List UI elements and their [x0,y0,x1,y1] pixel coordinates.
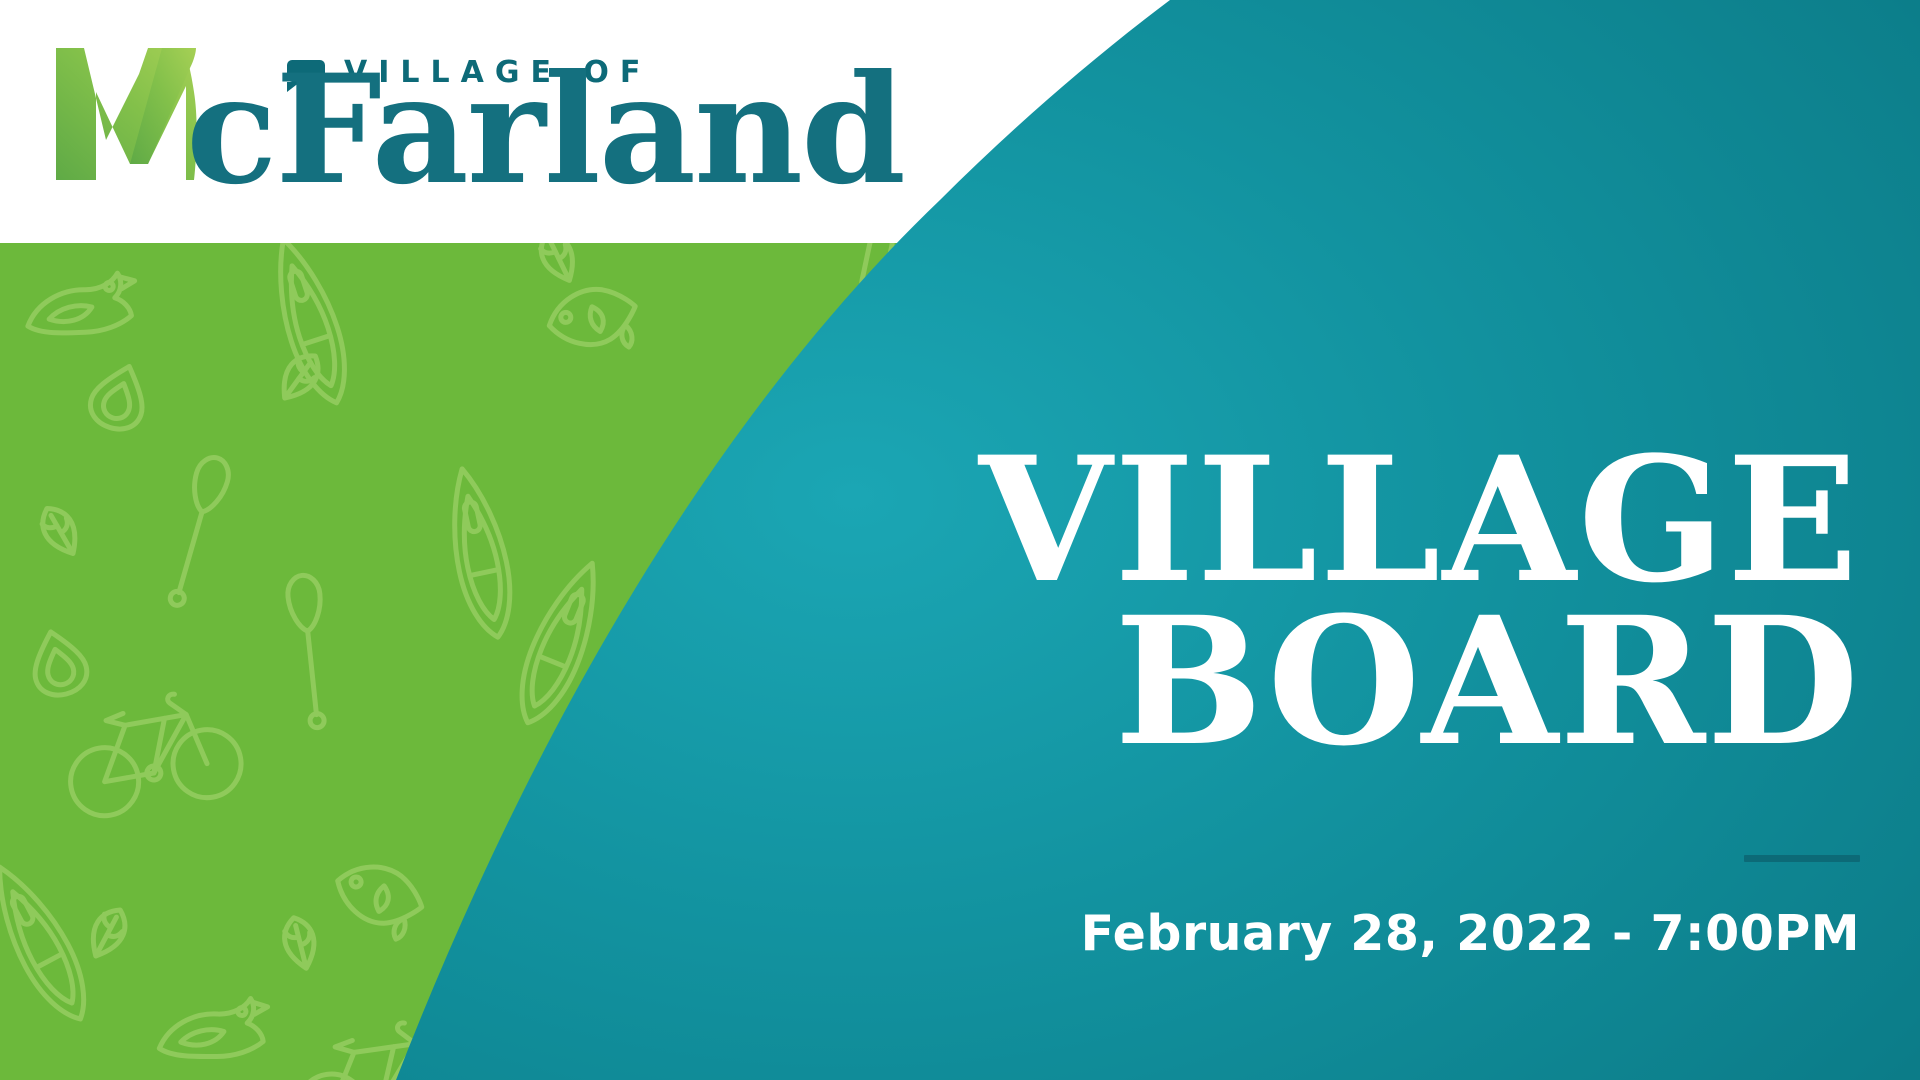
logo-band: VILLAGE OF cFarland [0,0,880,243]
hero-headline: VILLAGE BOARD [860,440,1860,764]
mcfarland-logo-svg: VILLAGE OF cFarland [44,30,944,200]
mcfarland-logo[interactable]: VILLAGE OF cFarland [44,30,944,200]
logo-wordmark: cFarland [186,42,904,200]
poster-canvas: VILLAGE OF cFarland VILLAGE BOARD Februa… [0,0,1920,1080]
meeting-date-time: February 28, 2022 - 7:00PM [1081,905,1860,962]
logo-m-mark [56,48,197,180]
hero-title-line-1: VILLAGE [860,440,1860,600]
hero-divider-rule [1744,855,1860,862]
hero-title-line-2: BOARD [860,600,1860,764]
